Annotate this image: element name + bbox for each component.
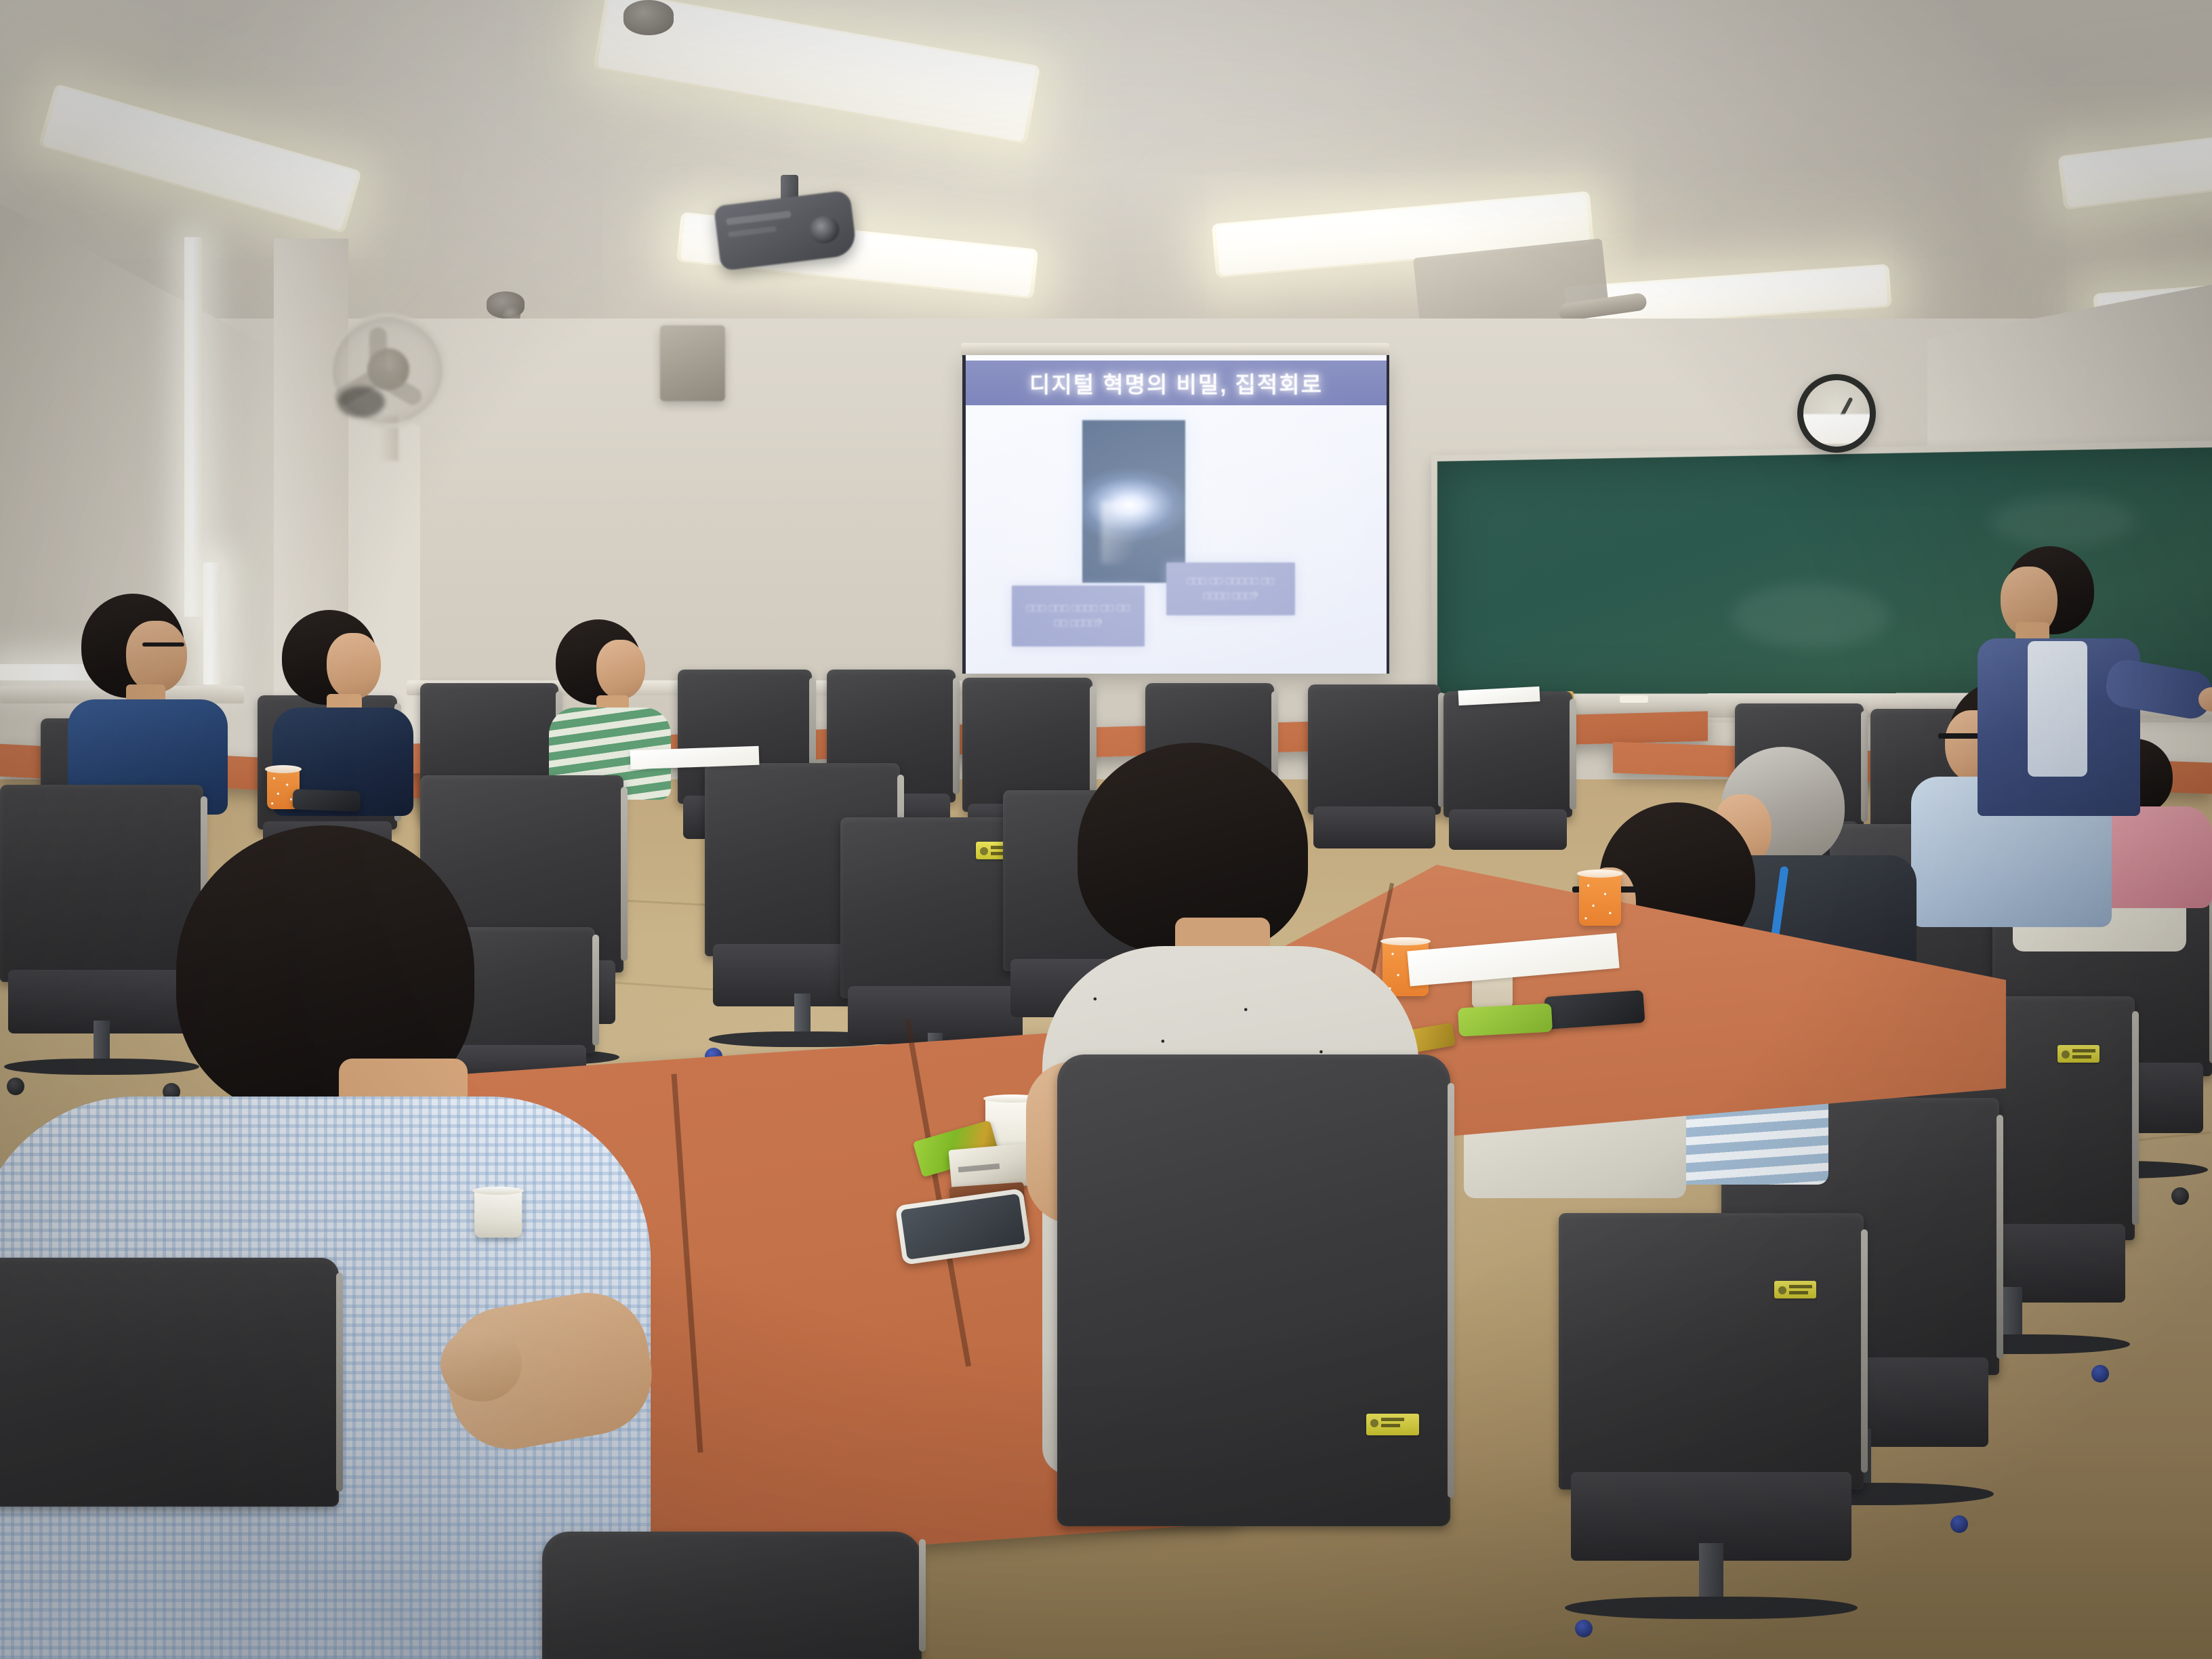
asset-tag-line bbox=[1381, 1418, 1404, 1421]
chair-foreground-armrest[interactable] bbox=[542, 1532, 922, 1659]
glasses-icon bbox=[142, 642, 184, 647]
projector-vent bbox=[726, 211, 792, 226]
chair-caster-blue bbox=[2091, 1365, 2109, 1382]
asset-tag-line bbox=[2072, 1055, 2091, 1059]
chair-asset-tag bbox=[1774, 1281, 1816, 1298]
projector-lens-icon bbox=[808, 214, 841, 245]
seminar-room-photo: 디지털 혁명의 비밀, 집적회로 □□□ □□□ □□□□ □□ □□ □□ □… bbox=[0, 0, 2212, 1659]
slide-callout-left-text: □□□ □□□ □□□□ □□ □□ □□ □□□□? bbox=[1012, 601, 1145, 632]
wall-speaker bbox=[660, 325, 725, 401]
smartphone-black-2[interactable] bbox=[293, 789, 361, 811]
smartphone-green-case[interactable] bbox=[1458, 1003, 1553, 1036]
chair-caster-blue bbox=[1575, 1620, 1593, 1637]
phone-screen bbox=[901, 1193, 1026, 1260]
presentation-slide: 디지털 혁명의 비밀, 집적회로 □□□ □□□ □□□□ □□ □□ □□ □… bbox=[966, 355, 1387, 674]
chair-foreground-center[interactable] bbox=[1057, 1054, 1450, 1659]
attendee-blue-polo bbox=[68, 594, 230, 811]
fan-shadow bbox=[337, 386, 385, 417]
asset-tag-line bbox=[2072, 1049, 2095, 1052]
chair-caster bbox=[2171, 1187, 2189, 1205]
paper-cup-orange-2[interactable] bbox=[1579, 873, 1621, 926]
slide-callout-right: □□□ □□ □□□□□ □□ □□□□ □□□? bbox=[1166, 562, 1295, 615]
chair-foreground-left[interactable] bbox=[0, 1258, 339, 1659]
asset-tag-hole bbox=[1370, 1419, 1378, 1427]
chalk-smudge bbox=[1732, 583, 1890, 649]
chalk-smudge-2 bbox=[1991, 494, 2137, 548]
face bbox=[596, 640, 645, 699]
chair-base bbox=[1565, 1597, 1858, 1619]
chair-backrest bbox=[0, 1258, 339, 1507]
slide-callout-left: □□□ □□□ □□□□ □□ □□ □□ □□□□? bbox=[1012, 586, 1145, 647]
presenter bbox=[1965, 546, 2212, 817]
chair-right-5[interactable] bbox=[1559, 1213, 1864, 1659]
face bbox=[126, 621, 187, 693]
projector-vent-2 bbox=[728, 226, 777, 238]
hand bbox=[441, 1327, 522, 1401]
presenter-shirt bbox=[2028, 641, 2087, 777]
face bbox=[327, 633, 381, 699]
wall-clock bbox=[1797, 374, 1876, 453]
fan-blade-3 bbox=[369, 327, 387, 379]
attendee-green-stripe bbox=[549, 619, 671, 796]
paper-cup-white-3[interactable] bbox=[474, 1190, 522, 1237]
asset-tag-hole bbox=[980, 847, 988, 855]
ceiling-speaker-icon bbox=[623, 0, 674, 35]
window-light-slot bbox=[184, 237, 202, 617]
projection-screen[interactable]: 디지털 혁명의 비밀, 집적회로 □□□ □□□ □□□□ □□ □□ □□ □… bbox=[962, 355, 1389, 674]
slide-title-bar: 디지털 혁명의 비밀, 집적회로 bbox=[966, 361, 1387, 405]
slide-title: 디지털 혁명의 비밀, 집적회로 bbox=[1029, 367, 1323, 399]
chair-backrest bbox=[1057, 1054, 1450, 1526]
chair-asset-tag bbox=[1366, 1414, 1419, 1435]
chair-backrest bbox=[542, 1532, 922, 1659]
asset-tag-line bbox=[1789, 1291, 1808, 1294]
asset-tag-line bbox=[1789, 1285, 1812, 1288]
chair-backrest bbox=[1559, 1213, 1864, 1490]
cigarette-pack-label bbox=[958, 1164, 1000, 1172]
wall-fan bbox=[328, 313, 447, 428]
clock-glare bbox=[1799, 414, 1876, 444]
asset-tag-line bbox=[1381, 1424, 1400, 1427]
chalk-stick[interactable] bbox=[1620, 695, 1648, 703]
slide-photo bbox=[1082, 420, 1185, 583]
smartphone-black[interactable] bbox=[1544, 990, 1645, 1029]
slide-callout-right-text: □□□ □□ □□□□□ □□ □□□□ □□□? bbox=[1166, 574, 1295, 605]
chair-backrest bbox=[1443, 691, 1572, 817]
asset-tag-hole bbox=[1778, 1286, 1786, 1294]
chair-caster-blue bbox=[1950, 1515, 1968, 1533]
asset-tag-hole bbox=[2062, 1050, 2070, 1059]
chair-asset-tag bbox=[2057, 1045, 2100, 1063]
